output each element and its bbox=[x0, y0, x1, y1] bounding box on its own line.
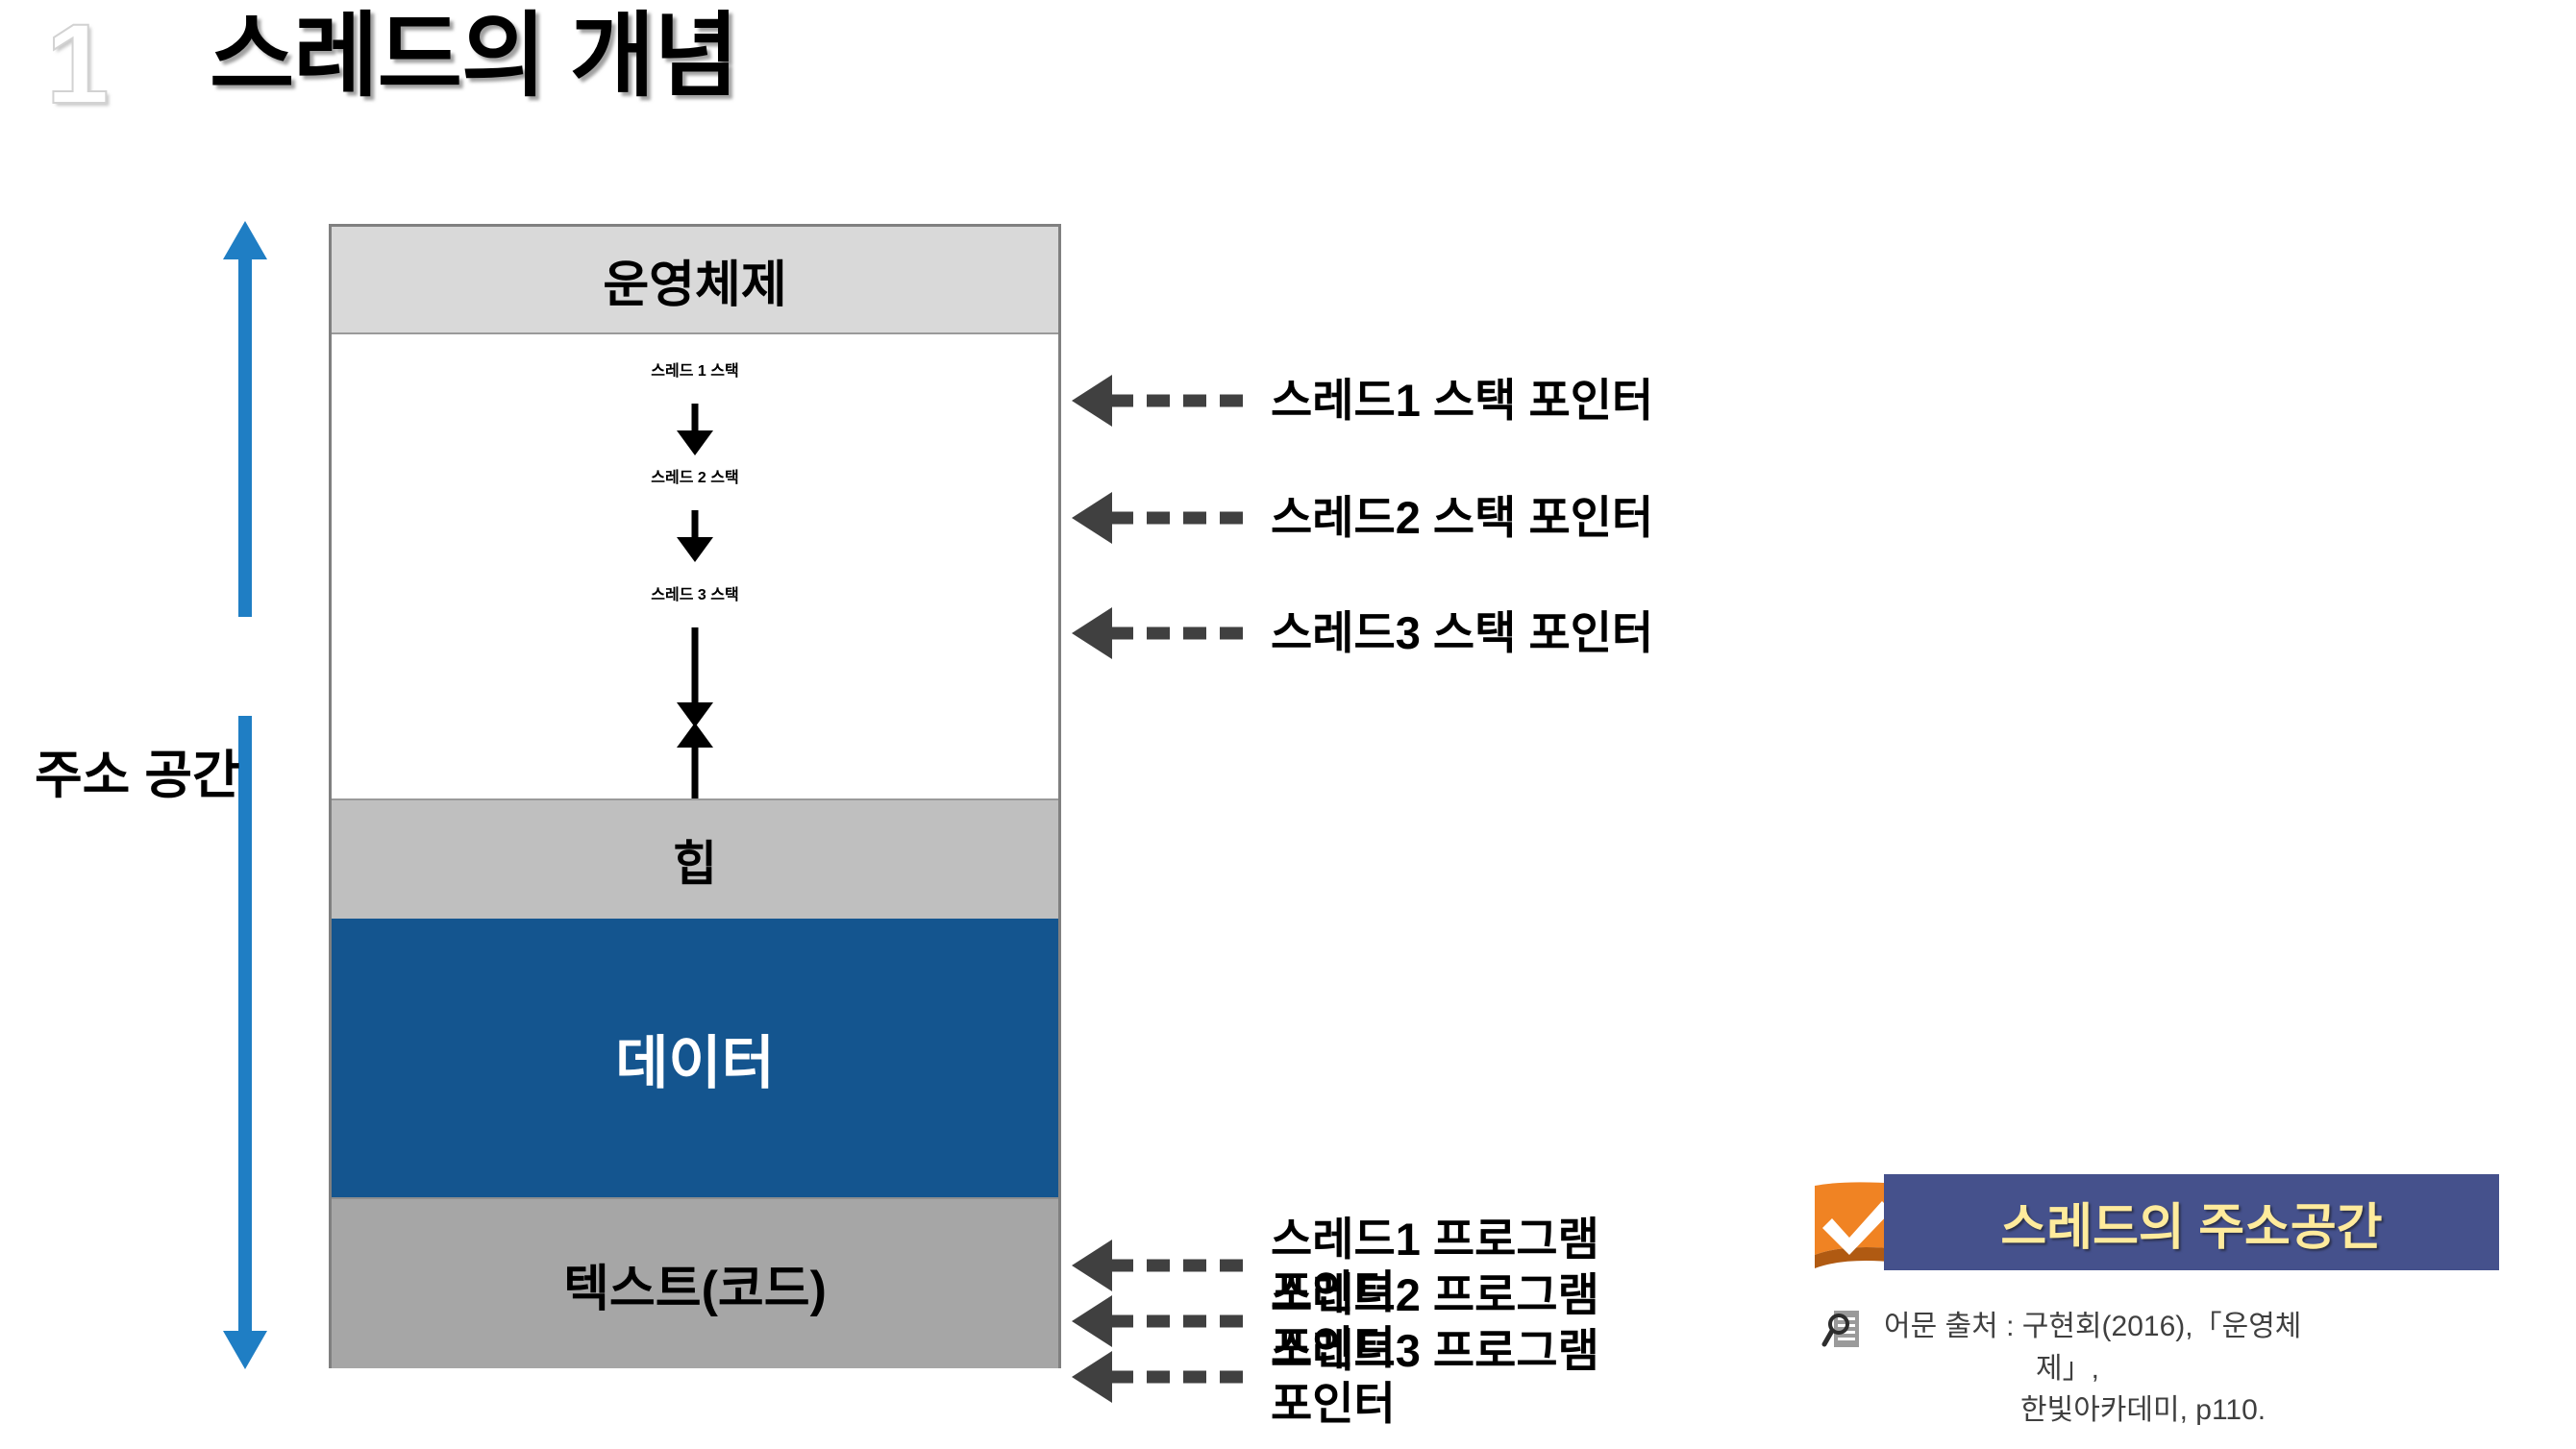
memory-layout-box: 운영체제 스레드 1 스택 스레드 2 스택 스레드 3 스택 힙 데이터 bbox=[329, 224, 1061, 1368]
address-space-arrow-down bbox=[223, 716, 267, 1369]
dashed-arrow-icon bbox=[1072, 384, 1250, 417]
banner-row: 스레드의 주소공간 bbox=[1807, 1174, 2566, 1285]
magnifier-document-icon bbox=[1821, 1308, 1865, 1352]
program-pointer-label-3: 스레드3 프로그램 포인터 bbox=[1271, 1324, 1599, 1431]
band-label-os: 운영체제 bbox=[603, 244, 786, 316]
stack-pointer-callout-1: 스레드1 스택 포인터 bbox=[1072, 374, 1653, 427]
heap-growth-arrowhead bbox=[677, 723, 713, 748]
stack2-growth-stem bbox=[692, 510, 699, 539]
address-space-arrow-up bbox=[223, 221, 267, 617]
dashed-arrow-icon bbox=[1072, 617, 1250, 650]
topic-callout: 스레드의 주소공간 어문 출처 : 구현회(2016),「운영체 bbox=[1807, 1174, 2566, 1432]
band-text-code: 텍스트(코드) bbox=[332, 1197, 1058, 1368]
source-citation: 어문 출처 : 구현회(2016),「운영체 제」, 한빛아카데미, p110. bbox=[1807, 1306, 2566, 1432]
band-thread3-stack: 스레드 3 스택 bbox=[332, 558, 1058, 627]
band-label-text: 텍스트(코드) bbox=[563, 1248, 827, 1320]
band-thread2-stack: 스레드 2 스택 bbox=[332, 441, 1058, 510]
source-line-1: 어문 출처 : 구현회(2016),「운영체 bbox=[1884, 1306, 2566, 1348]
slide-number: 1 bbox=[46, 8, 110, 121]
dashed-arrow-icon bbox=[1072, 1361, 1250, 1393]
band-label-stack2: 스레드 2 스택 bbox=[651, 464, 738, 487]
band-data: 데이터 bbox=[332, 919, 1058, 1197]
banner-title: 스레드의 주소공간 bbox=[2000, 1187, 2382, 1259]
program-pointer-label-2-line1: 스레드2 프로그램 bbox=[1271, 1268, 1599, 1321]
heap-growth-stem bbox=[692, 746, 699, 799]
source-line-3: 한빛아카데미, p110. bbox=[1884, 1389, 2566, 1432]
band-label-data: 데이터 bbox=[615, 1017, 775, 1100]
address-space-label: 주소 공간 bbox=[35, 732, 240, 808]
band-label-stack3: 스레드 3 스택 bbox=[651, 581, 738, 604]
stack-pointer-callout-3: 스레드3 스택 포인터 bbox=[1072, 606, 1653, 659]
band-label-heap: 힙 bbox=[673, 825, 717, 895]
stack-pointer-label-2: 스레드2 스택 포인터 bbox=[1271, 491, 1653, 544]
band-operating-system: 운영체제 bbox=[332, 227, 1058, 334]
band-heap: 힙 bbox=[332, 798, 1058, 919]
stack-pointer-callout-2: 스레드2 스택 포인터 bbox=[1072, 491, 1653, 544]
stack3-growth-stem bbox=[692, 627, 699, 704]
source-line-2: 제」, bbox=[1884, 1348, 2566, 1390]
stack1-growth-stem bbox=[692, 404, 699, 432]
banner: 스레드의 주소공간 bbox=[1884, 1174, 2499, 1270]
stack-pointer-label-3: 스레드3 스택 포인터 bbox=[1271, 606, 1653, 659]
program-pointer-label-3-line2: 포인터 bbox=[1271, 1377, 1599, 1430]
dashed-arrow-icon bbox=[1072, 502, 1250, 534]
slide-canvas: 1 스레드의 개념 주소 공간 운영체제 스레드 1 스택 스레드 2 스택 스… bbox=[0, 0, 2576, 1449]
band-label-stack1: 스레드 1 스택 bbox=[651, 357, 738, 381]
program-pointer-label-1-line1: 스레드1 프로그램 bbox=[1271, 1213, 1599, 1265]
band-thread1-stack: 스레드 1 스택 bbox=[332, 334, 1058, 404]
program-pointer-callout-3: 스레드3 프로그램 포인터 bbox=[1072, 1324, 1599, 1431]
program-pointer-label-3-line1: 스레드3 프로그램 bbox=[1271, 1324, 1599, 1377]
stack-pointer-label-1: 스레드1 스택 포인터 bbox=[1271, 374, 1653, 427]
page-title: 스레드의 개념 bbox=[210, 6, 738, 108]
